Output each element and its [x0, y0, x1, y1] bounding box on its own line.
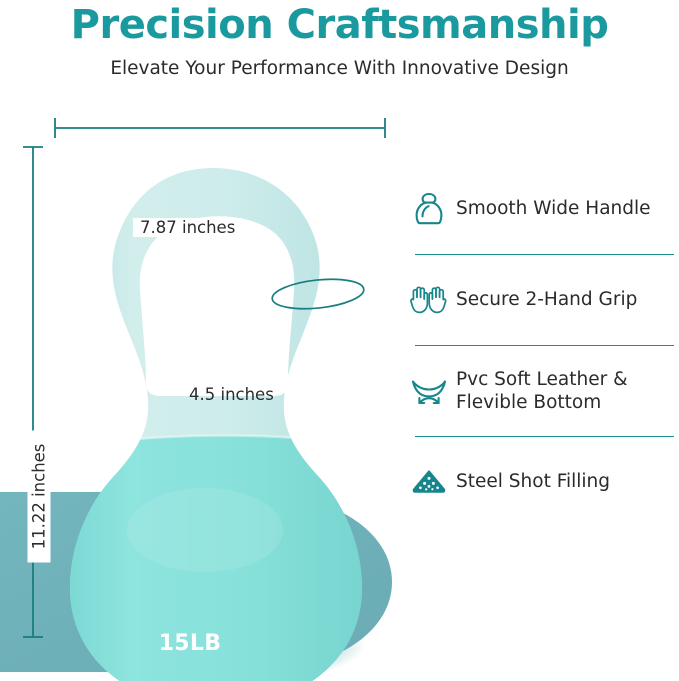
- handle-opening: [140, 216, 294, 396]
- feature-label: Smooth Wide Handle: [452, 197, 679, 220]
- feature-label-line2: Flevible Bottom: [456, 391, 679, 414]
- feature-divider: [415, 254, 674, 255]
- product-illustration: 7.87 inches 11.22 inches 4.5 inches 15LB: [0, 100, 400, 681]
- weight-badge: 15LB: [0, 631, 380, 656]
- page-title: Precision Craftsmanship: [0, 2, 679, 48]
- feature-divider: [415, 436, 674, 437]
- infographic-page: Precision Craftsmanship Elevate Your Per…: [0, 0, 679, 681]
- feature-list: Smooth Wide Handle: [406, 178, 679, 513]
- feature-item-pvc-soft-leather: Pvc Soft Leather & Flevible Bottom: [406, 360, 679, 422]
- feature-item-secure-2-hand-grip: Secure 2-Hand Grip: [406, 269, 679, 331]
- height-dimension-label: 11.22 inches: [28, 431, 51, 563]
- feature-label: Steel Shot Filling: [452, 470, 679, 493]
- width-dimension-label: 7.87 inches: [133, 218, 242, 237]
- grip-dimension-label: 4.5 inches: [189, 385, 274, 404]
- feature-item-smooth-wide-handle: Smooth Wide Handle: [406, 178, 679, 240]
- feature-item-steel-shot-filling: Steel Shot Filling: [406, 451, 679, 513]
- flexible-leather-icon: [406, 370, 452, 412]
- kettlebell-body: [40, 168, 400, 681]
- steel-shot-pile-icon: [406, 461, 452, 503]
- feature-label: Pvc Soft Leather &: [456, 368, 679, 391]
- page-subtitle: Elevate Your Performance With Innovative…: [0, 58, 679, 79]
- feature-label: Secure 2-Hand Grip: [452, 288, 679, 311]
- kettlebell-icon: [406, 188, 452, 230]
- feature-divider: [415, 345, 674, 346]
- two-hands-icon: [406, 279, 452, 321]
